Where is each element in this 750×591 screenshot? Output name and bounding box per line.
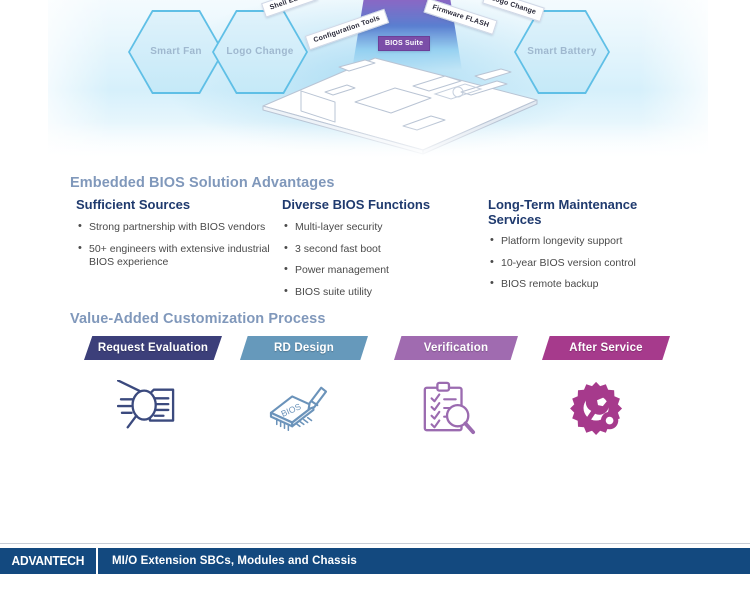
advantage-column-long-term-maintenance: Long-Term Maintenance Services Platform … [488,197,693,300]
advantech-logo: ADVANTECH [0,548,98,574]
footer-divider [0,543,750,544]
bullet-list: Strong partnership with BIOS vendors 50+… [76,221,291,270]
process-ribbon-4: After Service [542,336,670,360]
advantages-section-title: Embedded BIOS Solution Advantages [70,175,335,191]
hexagon-label: Smart Fan [150,46,202,58]
footer-bar: ADVANTECH MI/O Extension SBCs, Modules a… [0,548,750,574]
process-ribbon-1: Request Evaluation [84,336,222,360]
list-item: BIOS suite utility [282,286,472,300]
process-step-label: After Service [569,342,643,354]
isometric-sbc-board [255,48,545,160]
list-item: Strong partnership with BIOS vendors [76,221,291,235]
list-item: 50+ engineers with extensive industrial … [76,243,291,270]
list-item: 10-year BIOS version control [488,257,693,271]
bullet-list: Platform longevity support 10-year BIOS … [488,235,693,292]
list-item: Platform longevity support [488,235,693,249]
process-flow: Request Evaluation BIOS RD Design [64,334,684,462]
list-item: Multi-layer security [282,221,472,235]
advantage-column-diverse-bios-functions: Diverse BIOS Functions Multi-layer secur… [282,197,472,307]
column-heading: Diverse BIOS Functions [282,197,472,212]
process-section-title: Value-Added Customization Process [70,311,326,327]
list-item: 3 second fast boot [282,243,472,257]
logo-text: ADVANTECH [12,554,85,568]
footer-caption: MI/O Extension SBCs, Modules and Chassis [112,555,357,567]
tool-label-bios-suite: BIOS Suite [378,36,430,51]
column-heading: Long-Term Maintenance Services [488,197,693,227]
process-ribbon-3: Verification [394,336,518,360]
process-step-label: Request Evaluation [98,342,208,354]
process-step-label: Verification [424,342,488,354]
list-item: Power management [282,264,472,278]
column-heading: Sufficient Sources [76,197,291,212]
process-ribbon-2: RD Design [240,336,368,360]
gear-wrench-icon [567,380,629,436]
chip-pencil-icon: BIOS [267,380,329,436]
bullet-list: Multi-layer security 3 second fast boot … [282,221,472,299]
process-step-label: RD Design [274,342,334,354]
advantage-column-sufficient-sources: Sufficient Sources Strong partnership wi… [76,197,291,278]
hero-illustration: Smart Fan Logo Change Smart Battery Shel… [0,0,750,162]
list-item: BIOS remote backup [488,278,693,292]
magnifier-document-icon [117,380,179,436]
clipboard-magnifier-icon [417,380,479,436]
